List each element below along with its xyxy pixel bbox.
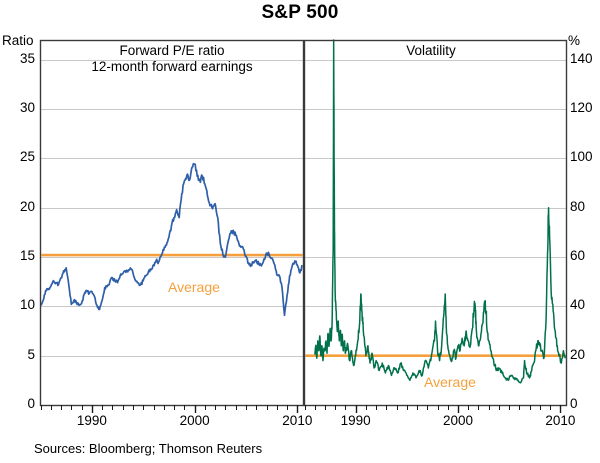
xaxis-tick-label-right-panel: 2000 [435, 413, 481, 428]
xaxis-tick-label-left-panel: 1990 [69, 413, 115, 428]
right-axis-tick-label: 80 [570, 199, 600, 214]
left-axis-tick-label: 0 [3, 396, 35, 411]
sources-note: Sources: Bloomberg; Thomson Reuters [34, 441, 262, 456]
xaxis-tick-label-left-panel: 2000 [172, 413, 218, 428]
xaxis-tick-label-right-panel: 1990 [333, 413, 379, 428]
left-axis-tick-label: 25 [3, 149, 35, 164]
volatility-series [315, 40, 566, 383]
left-axis-tick-label: 10 [3, 297, 35, 312]
chart-root: S&P 500 Ratio % Forward P/E ratio 12-mon… [0, 0, 600, 463]
left-axis-tick-label: 35 [3, 51, 35, 66]
right-axis-tick-label: 60 [570, 248, 600, 263]
xaxis-tick-label-right-panel: 2010 [537, 413, 583, 428]
right-axis-tick-label: 0 [570, 396, 600, 411]
right-axis-tick-label: 20 [570, 347, 600, 362]
right-axis-tick-label: 120 [570, 100, 600, 115]
left-axis-tick-label: 5 [3, 347, 35, 362]
plot-canvas [0, 0, 600, 463]
xaxis-tick-label-left-panel: 2010 [274, 413, 320, 428]
right-axis-tick-label: 40 [570, 297, 600, 312]
average-label-left-panel: Average [168, 279, 220, 295]
left-axis-tick-label: 20 [3, 199, 35, 214]
left-axis-tick-label: 15 [3, 248, 35, 263]
left-axis-tick-label: 30 [3, 100, 35, 115]
right-axis-tick-label: 140 [570, 51, 600, 66]
average-label-right-panel: Average [424, 374, 476, 390]
right-axis-tick-label: 100 [570, 149, 600, 164]
